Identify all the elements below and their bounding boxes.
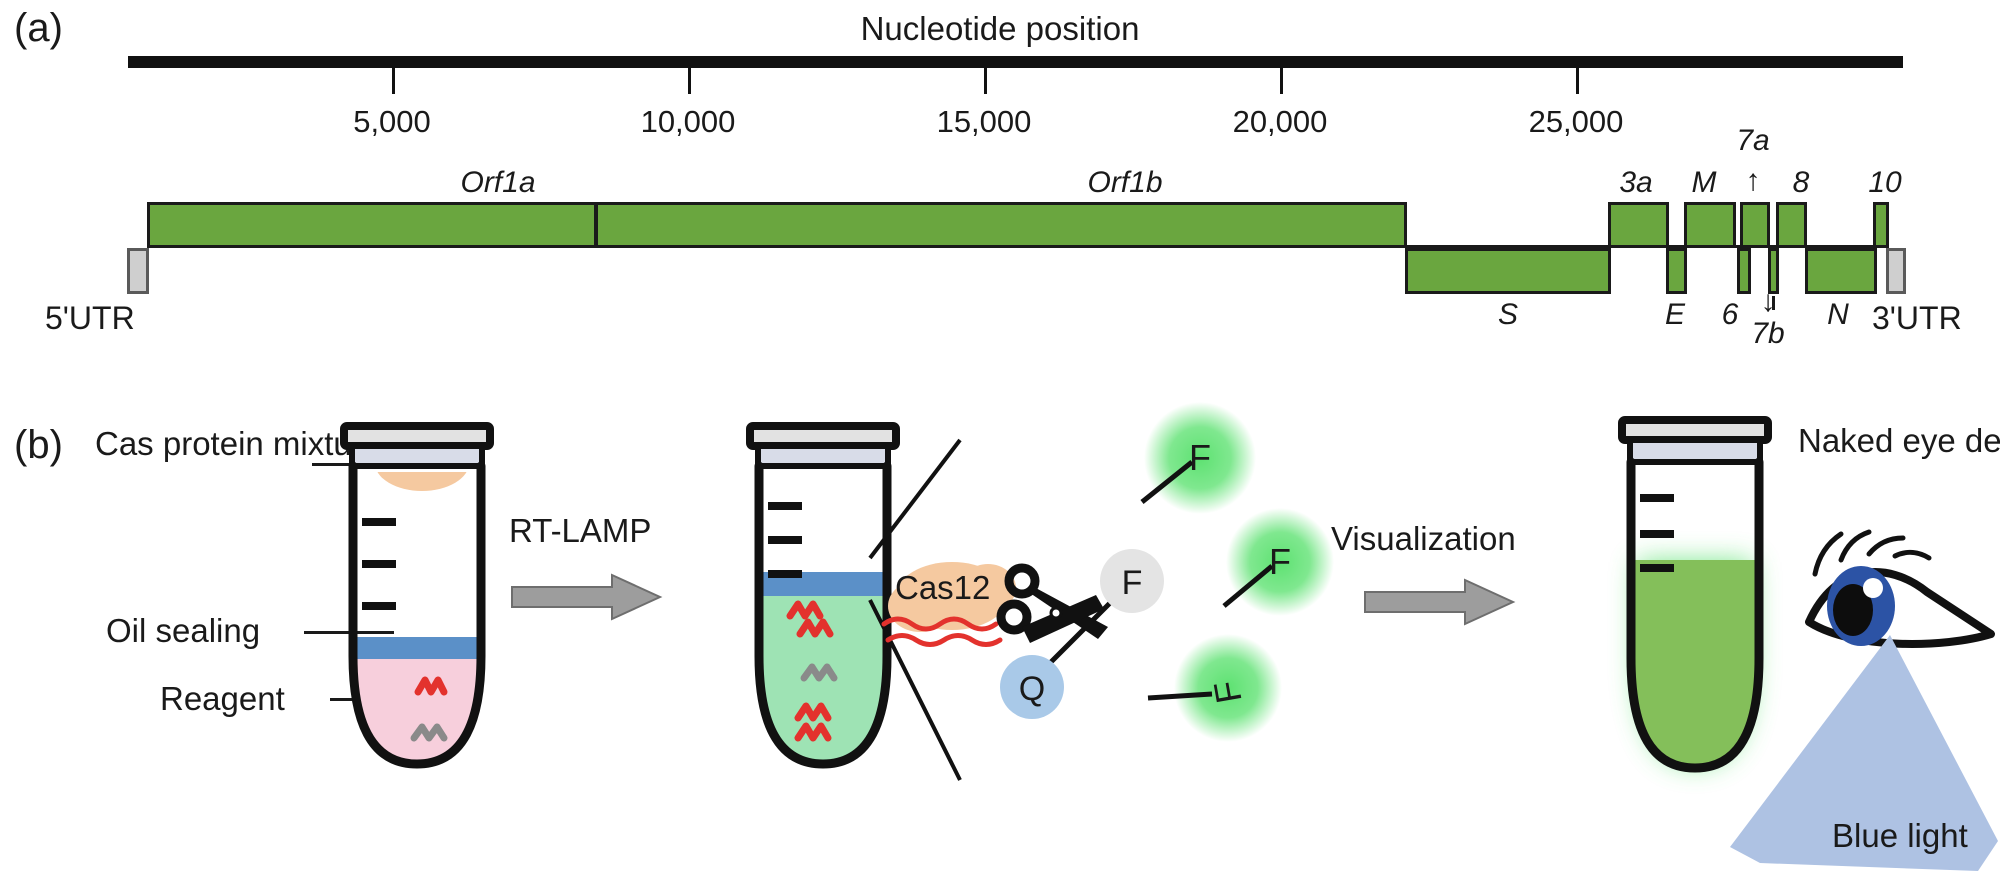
gene-block-orf1b xyxy=(595,202,1407,248)
utr3-label: 3'UTR xyxy=(1872,300,1962,337)
axis-tick-20000 xyxy=(1280,68,1283,94)
gene-label-e: E xyxy=(1645,298,1705,332)
tube-1 xyxy=(322,420,512,820)
axis-tick-15000 xyxy=(984,68,987,94)
svg-text:F: F xyxy=(1189,437,1211,478)
gene-label-m: M xyxy=(1679,166,1729,200)
axis-tick-25000 xyxy=(1576,68,1579,94)
tube-3-graduation-3 xyxy=(1640,564,1674,572)
svg-text:F: F xyxy=(1269,541,1291,582)
callout-cas-protein-mixture: Cas protein mixture xyxy=(95,426,305,463)
quencher-label: Q xyxy=(1019,670,1045,708)
gene-block-m xyxy=(1684,202,1736,248)
axis-tick-label-10000: 10,000 xyxy=(598,104,778,140)
tube-1-graduation-3 xyxy=(362,602,396,610)
tube-2-graduation-1 xyxy=(768,502,802,510)
gene-label-7b: 7b xyxy=(1744,317,1792,351)
arrow-down-icon-7b: ↓ xyxy=(1748,285,1788,319)
gene-block-7a xyxy=(1740,202,1770,248)
gene-block-3a xyxy=(1608,202,1669,248)
gene-label-s: S xyxy=(1468,298,1548,332)
arrow-up-icon-7a: ↑ xyxy=(1723,164,1783,198)
tube-1-cap-collar xyxy=(352,446,482,466)
panel-b-letter: (b) xyxy=(14,425,63,465)
gene-label-orf1b: Orf1b xyxy=(1025,166,1225,200)
gene-7b-arrow-stem xyxy=(1772,296,1775,310)
tube-1-graduation-2 xyxy=(362,560,396,568)
callout-reagent: Reagent xyxy=(160,681,285,718)
cas12-label: Cas12 xyxy=(895,570,990,607)
gene-label-3a: 3a xyxy=(1596,166,1676,200)
callout-oil-sealing: Oil sealing xyxy=(106,613,260,650)
tube-2-graduation-3 xyxy=(768,570,802,578)
eye-highlight xyxy=(1863,578,1883,598)
axis-title: Nucleotide position xyxy=(0,10,2000,48)
gene-block-10 xyxy=(1873,202,1889,248)
gene-block-orf1a xyxy=(147,202,597,248)
step-2-label: Visualization xyxy=(1331,520,1516,558)
axis-tick-label-15000: 15,000 xyxy=(894,104,1074,140)
axis-tick-label-5000: 5,000 xyxy=(302,104,482,140)
axis-tick-5000 xyxy=(392,68,395,94)
step-1-arrow-icon xyxy=(512,575,662,619)
free-fluorophore-3: F xyxy=(1100,620,1320,790)
gene-block-s xyxy=(1405,248,1611,294)
gene-label-10: 10 xyxy=(1855,166,1915,200)
naked-eye-detection-label: Naked eye detection xyxy=(1798,423,1998,460)
gene-block-n xyxy=(1805,248,1877,294)
step-1-label: RT-LAMP xyxy=(509,512,651,550)
gene-label-orf1a: Orf1a xyxy=(398,166,598,200)
utr5-block xyxy=(127,248,149,294)
gene-label-7a: 7a xyxy=(1723,124,1783,158)
axis-tick-label-25000: 25,000 xyxy=(1486,104,1666,140)
tube-3-graduation-2 xyxy=(1640,530,1674,538)
utr3-block xyxy=(1886,248,1906,294)
tube-1-graduation-1 xyxy=(362,518,396,526)
axis-tick-10000 xyxy=(688,68,691,94)
axis-tick-label-20000: 20,000 xyxy=(1190,104,1370,140)
gene-label-n: N xyxy=(1812,298,1864,332)
genome-backbone xyxy=(147,245,1889,248)
gene-label-8: 8 xyxy=(1779,166,1823,200)
tube-3-graduation-1 xyxy=(1640,494,1674,502)
blue-light-label: Blue light xyxy=(1832,818,1968,855)
naked-eye-detection-text: Naked eye detection xyxy=(1798,422,2000,459)
crrna-strand-2 xyxy=(888,636,1000,645)
tube-2-graduation-2 xyxy=(768,536,802,544)
fluorophore-quenched-label: F xyxy=(1122,564,1143,602)
gene-block-8 xyxy=(1776,202,1807,248)
nucleotide-axis-line xyxy=(128,56,1903,68)
utr5-label: 5'UTR xyxy=(45,300,135,337)
step-2-arrow-icon xyxy=(1365,580,1515,624)
tube-1-oil-layer xyxy=(342,637,492,659)
tube-2-cap-collar xyxy=(758,446,888,466)
gene-block-e xyxy=(1666,248,1687,294)
tube-3-cap-collar xyxy=(1630,440,1760,462)
